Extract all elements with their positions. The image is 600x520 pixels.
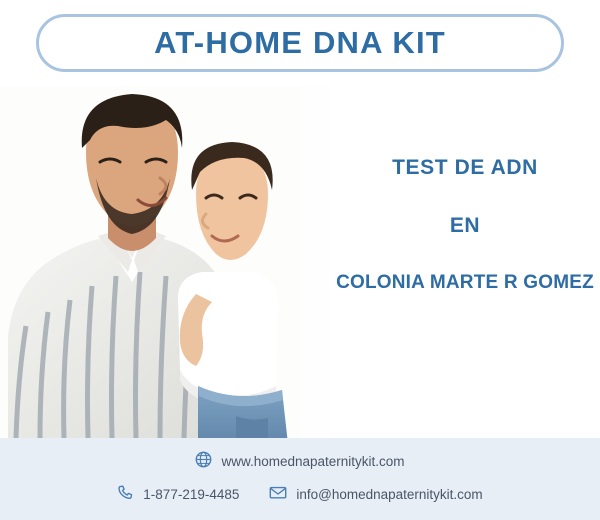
- headline-line-1: TEST DE ADN: [330, 156, 600, 180]
- phone-contact[interactable]: 1-877-219-4485: [117, 484, 239, 504]
- website-text: www.homednapaternitykit.com: [221, 454, 404, 469]
- footer-website-row: www.homednapaternitykit.com: [0, 451, 600, 471]
- header-pill: AT-HOME DNA KIT: [36, 14, 564, 72]
- phone-text: 1-877-219-4485: [143, 487, 239, 502]
- footer-contact-row: 1-877-219-4485 info@homednapaternitykit.…: [0, 484, 600, 504]
- envelope-icon: [269, 484, 287, 504]
- website-contact[interactable]: www.homednapaternitykit.com: [195, 451, 404, 471]
- footer-bar: www.homednapaternitykit.com 1-877-219-44…: [0, 438, 600, 520]
- email-contact[interactable]: info@homednapaternitykit.com: [269, 484, 482, 504]
- headline-text-column: TEST DE ADN EN COLONIA MARTE R GOMEZ: [330, 86, 600, 438]
- globe-icon: [195, 451, 212, 471]
- header-band: AT-HOME DNA KIT: [0, 0, 600, 86]
- headline-line-2: EN: [330, 214, 600, 238]
- poster: AT-HOME DNA KIT: [0, 0, 600, 520]
- email-text: info@homednapaternitykit.com: [296, 487, 482, 502]
- father-and-baby-photo: [0, 86, 330, 438]
- page-title: AT-HOME DNA KIT: [154, 25, 446, 61]
- main-content: TEST DE ADN EN COLONIA MARTE R GOMEZ: [0, 86, 600, 438]
- headline-line-3: COLONIA MARTE R GOMEZ: [330, 272, 600, 294]
- phone-icon: [117, 484, 134, 504]
